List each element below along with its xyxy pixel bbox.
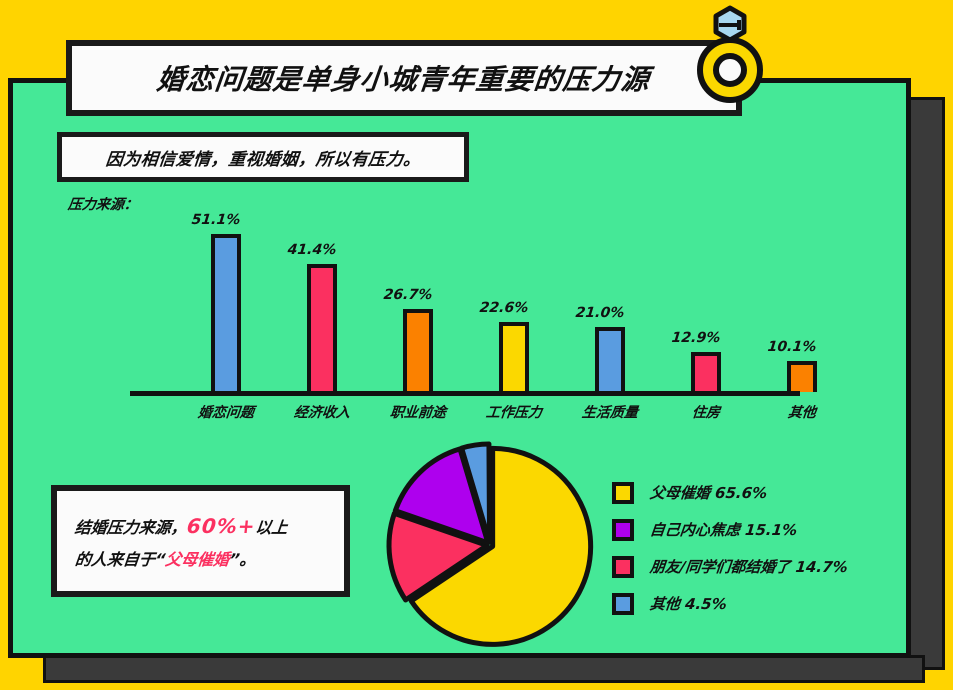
bar xyxy=(595,327,625,392)
callout-line-1: 结婚压力来源，60%+以上 xyxy=(73,507,328,545)
bar-column xyxy=(378,309,456,392)
bar-category-label: 工作压力 xyxy=(465,402,563,422)
subtitle-text: 因为相信爱情，重视婚姻，所以有压力。 xyxy=(104,145,422,170)
infographic-poster: 婚恋问题是单身小城青年重要的压力源 因为相信爱情，重视婚姻，所以有压力。 压力来… xyxy=(0,0,953,690)
legend-color-swatch xyxy=(612,556,634,578)
bar-chart-plot-area: 51.1%婚恋问题41.4%经济收入26.7%职业前途22.6%工作压力21.0… xyxy=(60,192,820,422)
legend-item: 其他 4.5% xyxy=(612,585,848,622)
bar-value-label: 26.7% xyxy=(368,287,448,303)
wedding-ring-icon xyxy=(692,4,768,108)
bar-column xyxy=(186,234,264,392)
bar-category-label: 婚恋问题 xyxy=(177,402,275,422)
bar-category-label: 生活质量 xyxy=(561,402,659,422)
bar-category-label: 住房 xyxy=(657,402,755,422)
legend-item-label: 其他 4.5% xyxy=(649,593,728,614)
bar-value-label: 51.1% xyxy=(176,212,256,228)
callout-line1-highlight: 60%+ xyxy=(186,514,257,538)
title-banner: 婚恋问题是单身小城青年重要的压力源 xyxy=(66,40,742,116)
bar-chart-x-axis xyxy=(130,391,800,396)
bar xyxy=(211,234,241,392)
callout-line2-pre: 的人来自于“ xyxy=(74,550,166,569)
legend-item: 自己内心焦虑 15.1% xyxy=(612,511,848,548)
legend-item-label: 自己内心焦虑 15.1% xyxy=(649,519,798,540)
bar-chart: 压力来源： 51.1%婚恋问题41.4%经济收入26.7%职业前途22.6%工作… xyxy=(60,192,820,422)
page-title: 婚恋问题是单身小城青年重要的压力源 xyxy=(155,58,652,98)
legend-color-swatch xyxy=(612,519,634,541)
bar-value-label: 41.4% xyxy=(272,242,352,258)
bar-column xyxy=(666,352,744,392)
bar-column xyxy=(474,322,552,392)
bar-value-label: 21.0% xyxy=(560,305,640,321)
panel-shadow-bottom xyxy=(43,655,925,683)
callout-line-2: 的人来自于“父母催婚”。 xyxy=(73,545,327,575)
pie-chart-legend: 父母催婚 65.6%自己内心焦虑 15.1%朋友/同学们都结婚了 14.7%其他… xyxy=(612,474,848,622)
legend-item: 朋友/同学们都结婚了 14.7% xyxy=(612,548,848,585)
legend-item: 父母催婚 65.6% xyxy=(612,474,848,511)
callout-line2-post: ”。 xyxy=(228,550,256,569)
bar-column xyxy=(570,327,648,392)
bar-column xyxy=(282,264,360,392)
bar xyxy=(307,264,337,392)
bar-category-label: 职业前途 xyxy=(369,402,467,422)
callout-banner: 结婚压力来源，60%+以上 的人来自于“父母催婚”。 xyxy=(51,485,350,597)
pie-chart xyxy=(382,437,598,653)
callout-line1-post: 以上 xyxy=(255,518,289,537)
callout-line1-pre: 结婚压力来源， xyxy=(74,518,188,537)
bar xyxy=(691,352,721,392)
subtitle-banner: 因为相信爱情，重视婚姻，所以有压力。 xyxy=(57,132,469,182)
bar-value-label: 10.1% xyxy=(752,339,832,355)
bar-value-label: 12.9% xyxy=(656,330,736,346)
callout-line2-highlight: 父母催婚 xyxy=(164,550,230,569)
legend-item-label: 父母催婚 65.6% xyxy=(649,482,768,503)
bar-category-label: 其他 xyxy=(753,402,851,422)
panel-shadow-right xyxy=(905,97,945,670)
legend-color-swatch xyxy=(612,482,634,504)
bar xyxy=(499,322,529,392)
bar-category-label: 经济收入 xyxy=(273,402,371,422)
bar xyxy=(403,309,433,392)
bar-column xyxy=(762,361,840,392)
bar-value-label: 22.6% xyxy=(464,300,544,316)
legend-color-swatch xyxy=(612,593,634,615)
legend-item-label: 朋友/同学们都结婚了 14.7% xyxy=(649,556,849,577)
bar xyxy=(787,361,817,392)
